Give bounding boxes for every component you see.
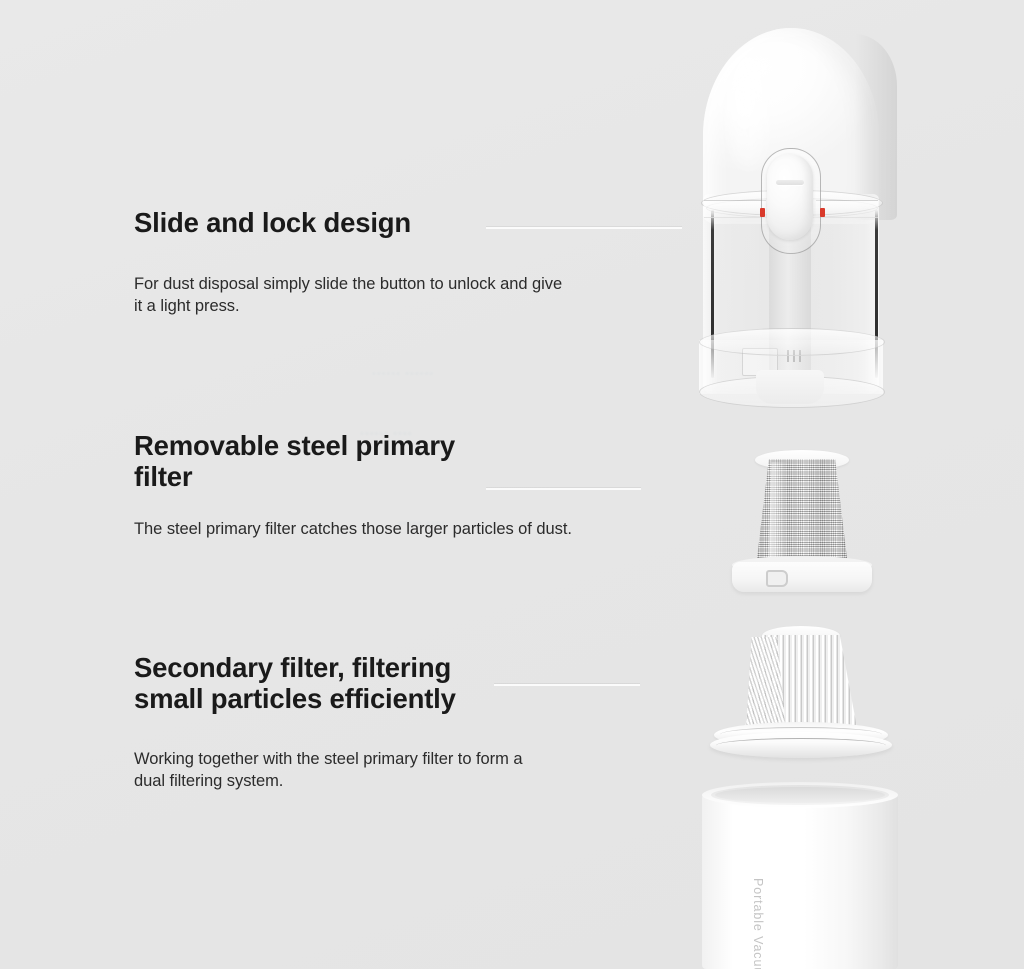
vacuum-body-rim [702,782,898,808]
feature-heading: Secondary filter, filtering small partic… [134,653,456,715]
feature-body-steel-primary-filter: The steel primary filter catches those l… [134,519,572,541]
steel-primary-filter-image [722,450,882,596]
hepa-filter-pleats [744,635,858,733]
steel-filter-top-cap [755,450,849,470]
dust-cup-left-edge [711,210,714,378]
feature-body-secondary-filter: Working together with the steel primary … [134,749,522,793]
steel-filter-base-ellipse [732,556,872,574]
vacuum-body-cylinder [702,794,898,969]
dust-cup-right-edge [875,210,878,378]
dust-cup-base-ticks [787,350,801,362]
feature-block-secondary-filter: Secondary filter, filtering small partic… [134,653,456,715]
feature-description: Working together with the steel primary … [134,749,522,793]
slide-lock-housing [761,148,821,254]
feature-description: For dust disposal simply slide the butto… [134,274,562,318]
steel-filter-release-tab [766,570,788,587]
dust-cup-base-ellipse [699,376,885,408]
steel-filter-highlight [768,462,788,566]
background-watermark: •••••• •••••• [372,368,434,380]
hepa-filter-lower-flange [710,732,892,758]
dust-cup-inner-tube [769,214,811,386]
heading-divider [486,226,682,229]
hepa-filter-top-cap [762,626,840,646]
feature-body-slide-and-lock: For dust disposal simply slide the butto… [134,274,562,318]
slide-lock-right-wing [816,200,878,218]
lock-indicator-icon [820,208,825,217]
dust-cup-dome-shading [855,34,897,220]
feature-block-steel-primary-filter: Removable steel primary filter [134,431,455,493]
product-feature-infographic: •••••• •••••• •••••• •••• ••••• •••• Sli… [0,0,1024,969]
feature-heading: Removable steel primary filter [134,431,455,493]
hepa-filter-upper-flange [714,722,888,748]
hepa-filter-flange-seam-upper [720,727,882,742]
feature-block-slide-and-lock: Slide and lock design [134,208,411,239]
dust-cup-base-body [699,340,883,394]
vacuum-body-image: Portable Vacuu [702,782,898,969]
feature-heading: Slide and lock design [134,208,411,239]
slide-lock-left-wing [704,200,766,218]
hepa-filter-pleats-side [746,637,786,731]
hepa-filter-flange-seam-lower [716,738,886,753]
lock-indicator-icon [760,208,765,217]
vacuum-body-label-text: Portable Vacuu [751,878,765,969]
heading-divider [486,487,641,490]
dust-cup-base-detail [742,348,778,376]
steel-filter-base-ring [732,562,872,592]
vacuum-body-opening [715,787,885,803]
slide-lock-button [767,154,813,240]
feature-description: The steel primary filter catches those l… [134,519,572,541]
dust-cup-image [690,28,910,420]
steel-filter-mesh [756,459,848,567]
vacuum-body-rim-inner [711,785,889,805]
dust-cup-transparent-body [703,194,879,394]
dust-cup-highlight [726,50,772,170]
dust-cup-band [699,328,885,356]
secondary-hepa-filter-image [700,626,900,760]
dust-cup-dome [703,28,879,224]
slide-lock-grip-ridge [776,180,804,185]
dust-cup-top-rim [701,190,883,216]
dust-cup-base-plug [756,370,824,404]
heading-divider [494,683,640,686]
dust-cup-top-rim-inner [706,198,878,218]
